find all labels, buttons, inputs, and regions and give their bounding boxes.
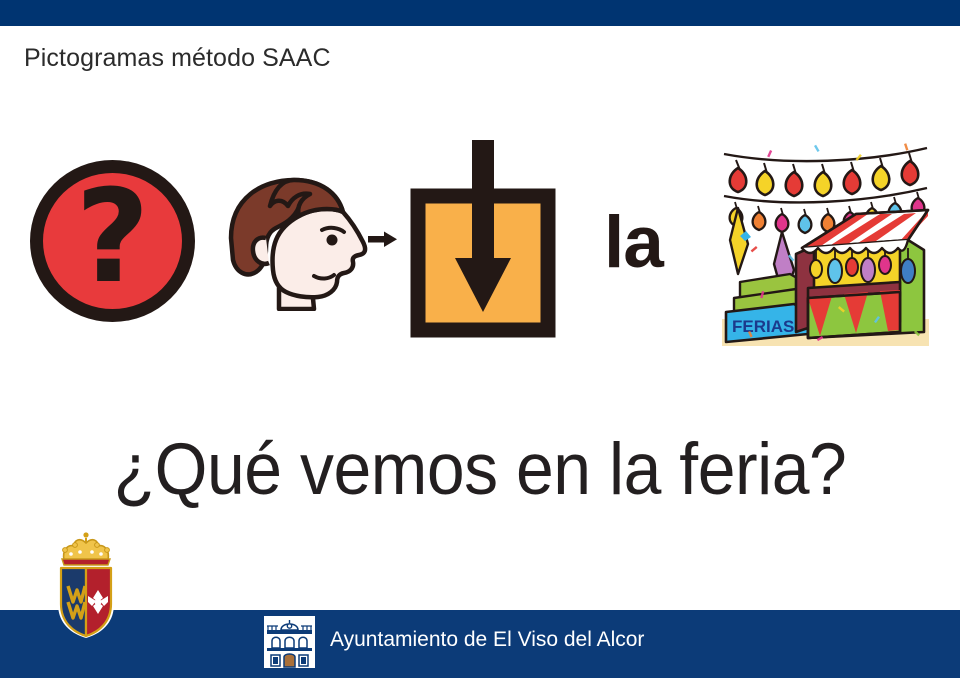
question-mark-glyph: ? xyxy=(30,160,195,322)
pictogram-fair: FERIAS xyxy=(718,136,933,351)
pictogram-word-la: la xyxy=(604,206,663,279)
fair-booth-icon: FERIAS xyxy=(718,136,933,351)
town-hall-logo xyxy=(262,614,317,670)
page-title: Pictogramas método SAAC xyxy=(24,44,331,73)
coat-of-arms xyxy=(44,528,128,640)
ferias-sign-text: FERIAS xyxy=(732,317,794,336)
town-hall-icon xyxy=(262,614,317,670)
slide-root: Pictogramas método SAAC ? xyxy=(0,0,960,678)
head-looking-icon xyxy=(222,176,397,311)
pictogram-arrow-into-box xyxy=(408,140,558,340)
pictogram-row: ? xyxy=(0,128,960,363)
crest-icon xyxy=(44,528,128,640)
main-question: ¿Qué vemos en la feria? xyxy=(34,428,927,511)
footer-organization: Ayuntamiento de El Viso del Alcor xyxy=(330,628,644,652)
top-accent-bar xyxy=(0,0,960,26)
pictogram-head-looking xyxy=(222,176,397,311)
pictogram-question-mark: ? xyxy=(30,160,195,322)
gaze-arrow-icon xyxy=(368,232,397,248)
arrow-into-box-icon xyxy=(408,140,558,340)
